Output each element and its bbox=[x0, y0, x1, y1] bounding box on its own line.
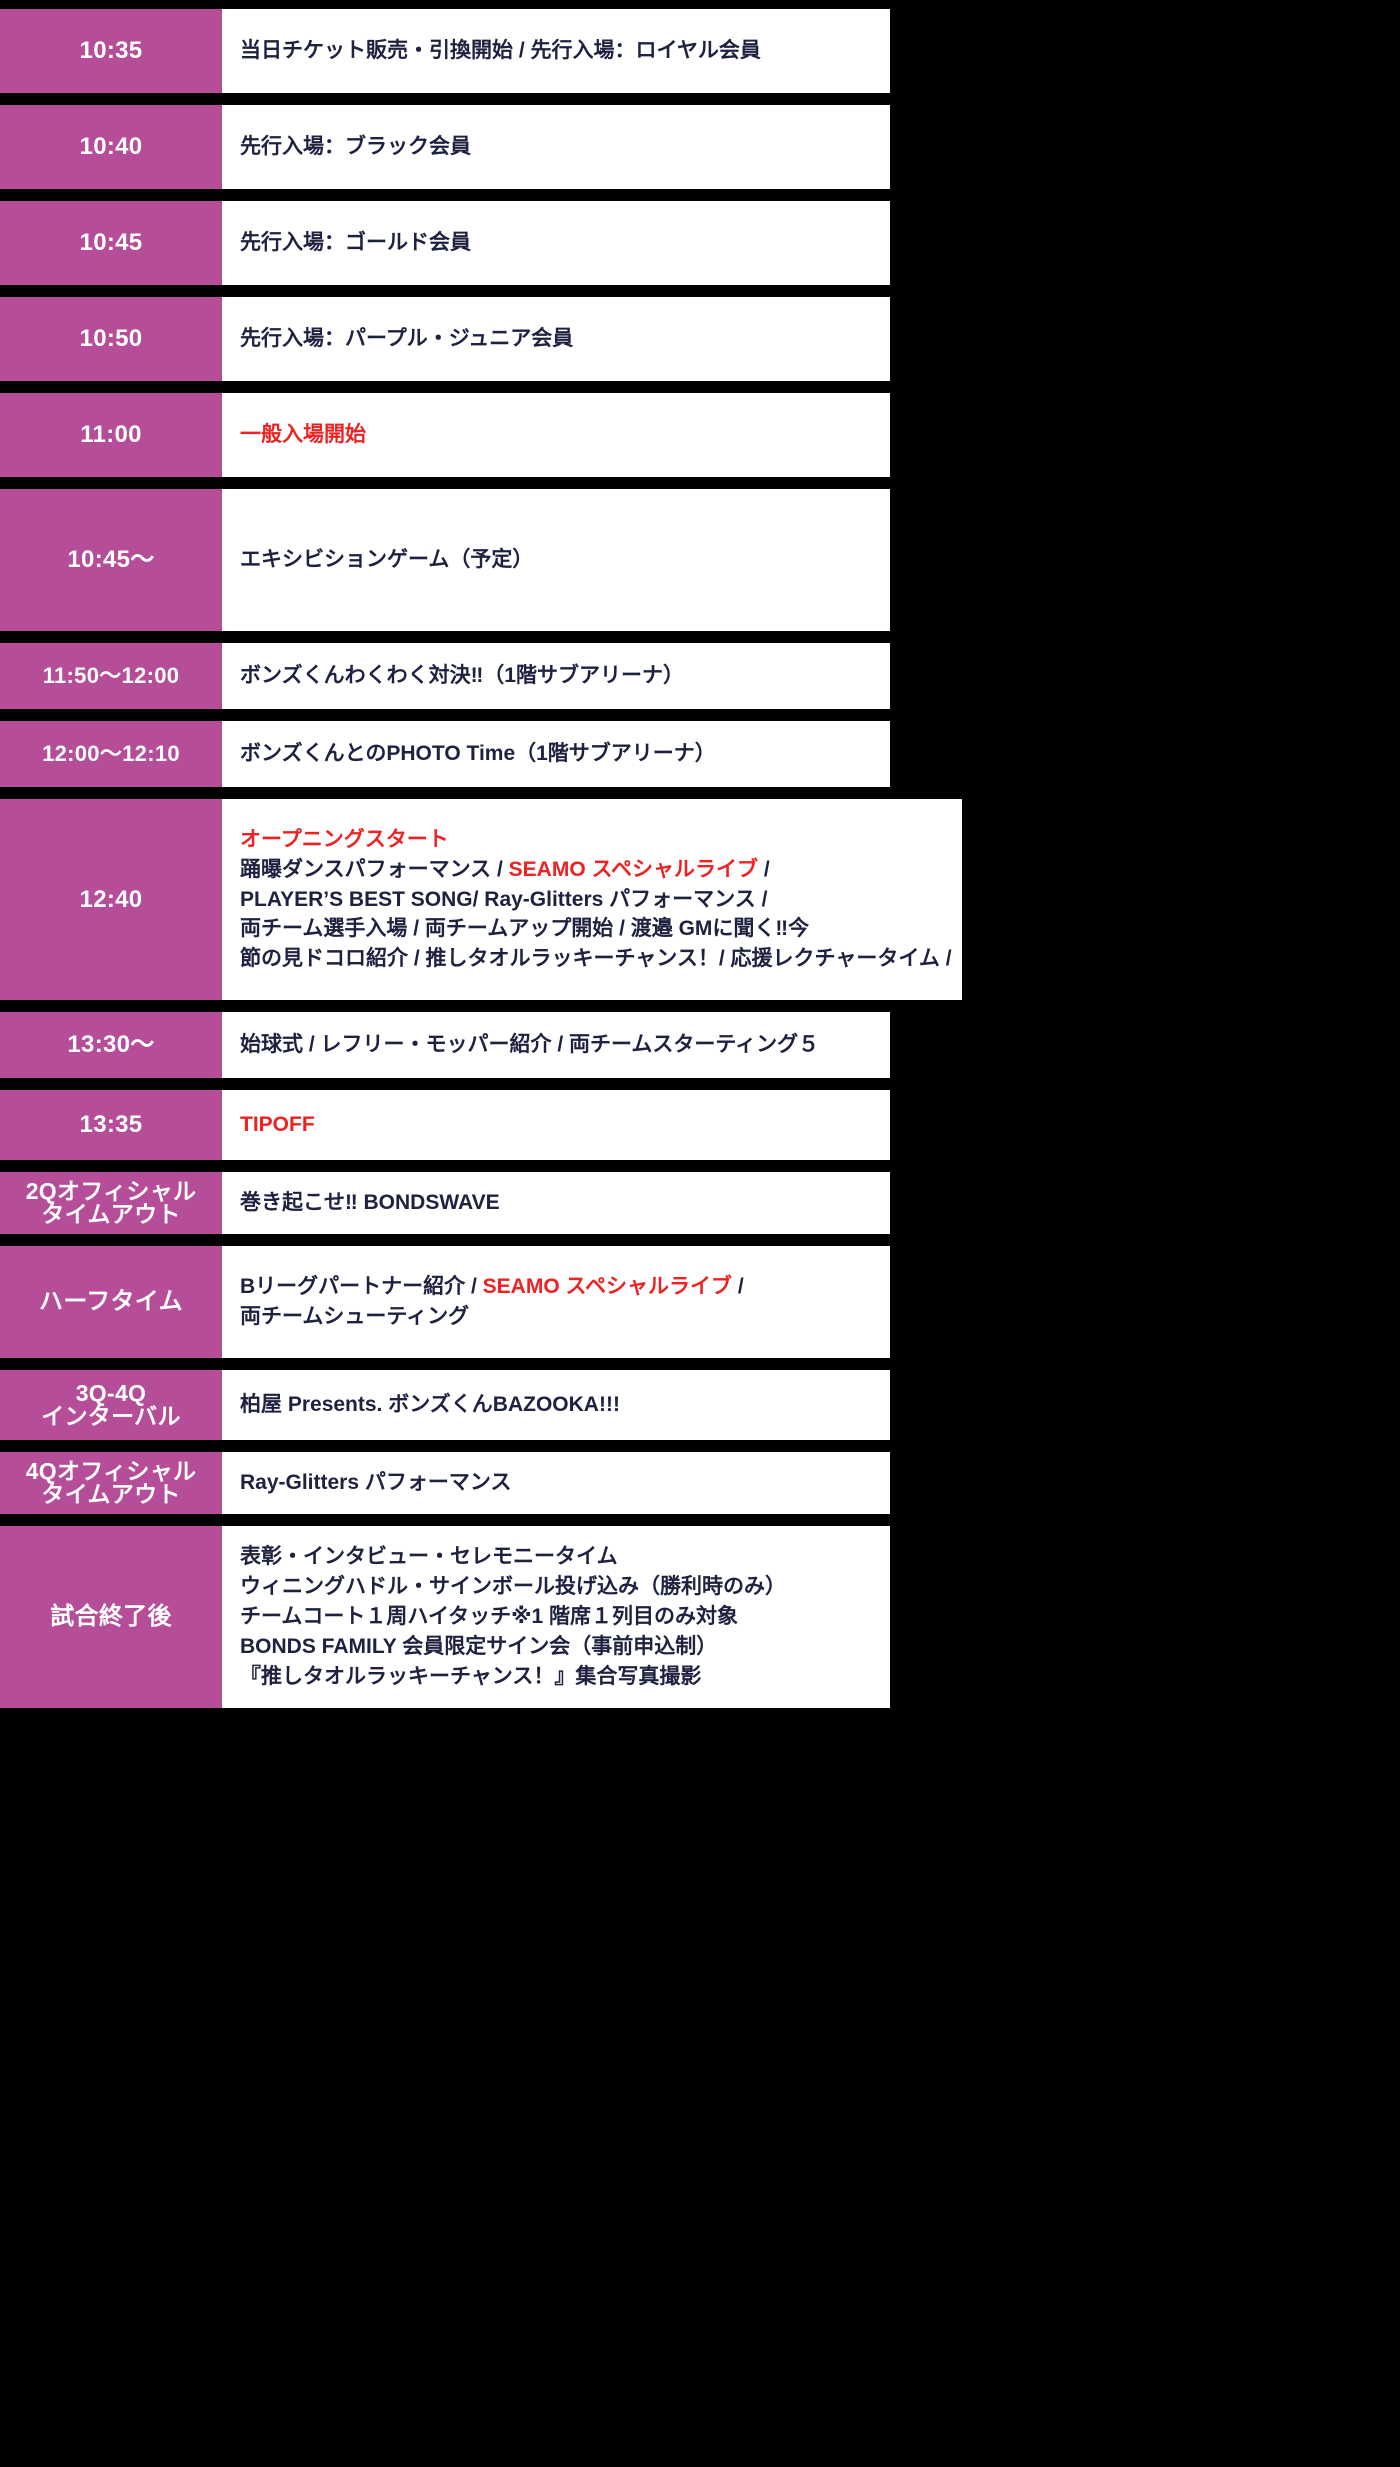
row-separator bbox=[0, 189, 890, 201]
schedule-row: 10:45先行入場：ゴールド会員 bbox=[0, 201, 890, 285]
schedule-time-cell: 3Q-4Q インターバル bbox=[0, 1370, 222, 1440]
schedule-description-cell: 一般入場開始 bbox=[222, 393, 890, 477]
schedule-time-cell: 13:35 bbox=[0, 1090, 222, 1160]
schedule-description-line: 当日チケット販売・引換開始 / 先行入場：ロイヤル会員 bbox=[240, 35, 880, 67]
schedule-description-line: 『推しタオルラッキーチャンス！』集合写真撮影 bbox=[240, 1662, 880, 1692]
description-text: 巻き起こせ‼ BONDSWAVE bbox=[240, 1191, 500, 1214]
schedule-row: ハーフタイムBリーグパートナー紹介 / SEAMO スペシャルライブ /両チーム… bbox=[0, 1246, 890, 1358]
row-separator bbox=[0, 1358, 890, 1370]
schedule-description-cell: エキシビションゲーム（予定） bbox=[222, 489, 890, 631]
description-text: ボンズくんとのPHOTO Time（1階サブアリーナ） bbox=[240, 742, 716, 765]
schedule-description-line: PLAYER’S BEST SONG/ Ray-Glitters パフォーマンス… bbox=[240, 885, 952, 915]
schedule-description-line: 表彰・インタビュー・セレモニータイム bbox=[240, 1542, 880, 1572]
schedule-description-cell: 先行入場：ブラック会員 bbox=[222, 105, 890, 189]
schedule-description-line: TIPOFF bbox=[240, 1109, 880, 1141]
description-text: 先行入場：ゴールド会員 bbox=[240, 231, 471, 254]
description-text: Ray-Glitters パフォーマンス bbox=[240, 1471, 511, 1494]
schedule-description-cell: Ray-Glitters パフォーマンス bbox=[222, 1452, 890, 1514]
highlight-text: 一般入場開始 bbox=[240, 423, 366, 446]
row-separator bbox=[0, 787, 890, 799]
schedule-description-line: 柏屋 Presents. ボンズくんBAZOOKA!!! bbox=[240, 1389, 880, 1421]
schedule-row: 10:50先行入場：パープル・ジュニア会員 bbox=[0, 297, 890, 381]
schedule-row: 13:35TIPOFF bbox=[0, 1090, 890, 1160]
schedule-description-cell: Bリーグパートナー紹介 / SEAMO スペシャルライブ /両チームシューティン… bbox=[222, 1246, 890, 1358]
schedule-time-cell: 10:45 bbox=[0, 201, 222, 285]
schedule-row: 2Qオフィシャル タイムアウト巻き起こせ‼ BONDSWAVE bbox=[0, 1172, 890, 1234]
row-separator bbox=[0, 1234, 890, 1246]
row-separator bbox=[0, 93, 890, 105]
schedule-row: 11:50〜12:00ボンズくんわくわく対決‼（1階サブアリーナ） bbox=[0, 643, 890, 709]
description-text: ボンズくんわくわく対決‼（1階サブアリーナ） bbox=[240, 664, 684, 687]
schedule-description-line: Ray-Glitters パフォーマンス bbox=[240, 1467, 880, 1499]
schedule-description-cell: ボンズくんわくわく対決‼（1階サブアリーナ） bbox=[222, 643, 890, 709]
schedule-description-line: 始球式 / レフリー・モッパー紹介 / 両チームスターティング５ bbox=[240, 1029, 880, 1061]
description-text: PLAYER’S BEST SONG/ Ray-Glitters パフォーマンス… bbox=[240, 888, 767, 911]
row-separator bbox=[0, 709, 890, 721]
schedule-time-cell: 11:00 bbox=[0, 393, 222, 477]
row-separator bbox=[0, 1000, 890, 1012]
row-separator bbox=[0, 1078, 890, 1090]
schedule-description-line: チームコート１周ハイタッチ※1 階席１列目のみ対象 bbox=[240, 1602, 880, 1632]
description-text: BONDS FAMILY 会員限定サイン会（事前申込制） bbox=[240, 1635, 717, 1658]
schedule-description-line: 両チーム選手入場 / 両チームアップ開始 / 渡邉 GMに聞く‼今 bbox=[240, 914, 952, 944]
schedule-time-cell: 10:40 bbox=[0, 105, 222, 189]
description-text: 当日チケット販売・引換開始 / 先行入場：ロイヤル会員 bbox=[240, 39, 761, 62]
description-text: 踊曝ダンスパフォーマンス / bbox=[240, 858, 509, 881]
description-text: 先行入場：ブラック会員 bbox=[240, 135, 471, 158]
description-text: エキシビションゲーム（予定） bbox=[240, 548, 533, 571]
description-text: ウィニングハドル・サインボール投げ込み（勝利時のみ） bbox=[240, 1575, 786, 1598]
description-text: 柏屋 Presents. ボンズくんBAZOOKA!!! bbox=[240, 1393, 620, 1416]
schedule-description-cell: 柏屋 Presents. ボンズくんBAZOOKA!!! bbox=[222, 1370, 890, 1440]
schedule-description-cell: 先行入場：パープル・ジュニア会員 bbox=[222, 297, 890, 381]
description-text: 『推しタオルラッキーチャンス！』集合写真撮影 bbox=[240, 1665, 701, 1688]
schedule-description-line: 踊曝ダンスパフォーマンス / SEAMO スペシャルライブ / bbox=[240, 855, 952, 885]
schedule-row: 4Qオフィシャル タイムアウトRay-Glitters パフォーマンス bbox=[0, 1452, 890, 1514]
schedule-description-cell: 巻き起こせ‼ BONDSWAVE bbox=[222, 1172, 890, 1234]
schedule-time-cell: 12:00〜12:10 bbox=[0, 721, 222, 787]
row-separator bbox=[0, 1514, 890, 1526]
row-separator bbox=[0, 285, 890, 297]
schedule-row: 10:45〜エキシビションゲーム（予定） bbox=[0, 489, 890, 631]
schedule-row: 試合終了後表彰・インタビュー・セレモニータイムウィニングハドル・サインボール投げ… bbox=[0, 1526, 890, 1708]
description-text: 両チームシューティング bbox=[240, 1305, 469, 1328]
schedule-description-line: BONDS FAMILY 会員限定サイン会（事前申込制） bbox=[240, 1632, 880, 1662]
schedule-description-cell: 始球式 / レフリー・モッパー紹介 / 両チームスターティング５ bbox=[222, 1012, 890, 1078]
schedule-description-line: ウィニングハドル・サインボール投げ込み（勝利時のみ） bbox=[240, 1572, 880, 1602]
schedule-time-cell: 2Qオフィシャル タイムアウト bbox=[0, 1172, 222, 1234]
description-text: / bbox=[758, 858, 770, 881]
schedule-row: 10:35当日チケット販売・引換開始 / 先行入場：ロイヤル会員 bbox=[0, 9, 890, 93]
row-separator bbox=[0, 477, 890, 489]
description-text: チームコート１周ハイタッチ※1 階席１列目のみ対象 bbox=[240, 1605, 738, 1628]
schedule-description-line: 先行入場：ブラック会員 bbox=[240, 131, 880, 163]
schedule-description-cell: オープニングスタート踊曝ダンスパフォーマンス / SEAMO スペシャルライブ … bbox=[222, 799, 962, 1000]
schedule-description-line: ボンズくんわくわく対決‼（1階サブアリーナ） bbox=[240, 660, 880, 692]
schedule-time-cell: 12:40 bbox=[0, 799, 222, 1000]
schedule-time-cell: 10:35 bbox=[0, 9, 222, 93]
highlight-text: SEAMO スペシャルライブ bbox=[483, 1275, 732, 1298]
schedule-time-cell: 4Qオフィシャル タイムアウト bbox=[0, 1452, 222, 1514]
schedule-row: 13:30〜始球式 / レフリー・モッパー紹介 / 両チームスターティング５ bbox=[0, 1012, 890, 1078]
schedule-description-line: 先行入場：パープル・ジュニア会員 bbox=[240, 323, 880, 355]
schedule-description-line: オープニングスタート bbox=[240, 825, 952, 855]
description-text: 節の見ドコロ紹介 / 推しタオルラッキーチャンス！/ 応援レクチャータイム / bbox=[240, 947, 952, 970]
schedule-description-line: 一般入場開始 bbox=[240, 419, 880, 451]
row-separator bbox=[0, 381, 890, 393]
description-text: 始球式 / レフリー・モッパー紹介 / 両チームスターティング５ bbox=[240, 1033, 819, 1056]
description-text: Bリーグパートナー紹介 / bbox=[240, 1275, 483, 1298]
row-separator bbox=[0, 0, 890, 9]
description-text: / bbox=[732, 1275, 744, 1298]
schedule-time-cell: 試合終了後 bbox=[0, 1526, 222, 1708]
schedule-row: 3Q-4Q インターバル柏屋 Presents. ボンズくんBAZOOKA!!! bbox=[0, 1370, 890, 1440]
event-schedule-table: 10:35当日チケット販売・引換開始 / 先行入場：ロイヤル会員10:40先行入… bbox=[0, 0, 890, 1708]
schedule-description-line: エキシビションゲーム（予定） bbox=[240, 544, 880, 576]
schedule-time-cell: 13:30〜 bbox=[0, 1012, 222, 1078]
highlight-text: TIPOFF bbox=[240, 1113, 315, 1136]
row-separator bbox=[0, 631, 890, 643]
row-separator bbox=[0, 1440, 890, 1452]
schedule-row: 12:40オープニングスタート踊曝ダンスパフォーマンス / SEAMO スペシャ… bbox=[0, 799, 890, 1000]
schedule-row: 10:40先行入場：ブラック会員 bbox=[0, 105, 890, 189]
description-text: 表彰・インタビュー・セレモニータイム bbox=[240, 1545, 618, 1568]
schedule-description-cell: TIPOFF bbox=[222, 1090, 890, 1160]
schedule-time-cell: 10:45〜 bbox=[0, 489, 222, 631]
schedule-time-cell: ハーフタイム bbox=[0, 1246, 222, 1358]
schedule-row: 11:00一般入場開始 bbox=[0, 393, 890, 477]
highlight-text: オープニングスタート bbox=[240, 828, 449, 851]
schedule-description-line: 節の見ドコロ紹介 / 推しタオルラッキーチャンス！/ 応援レクチャータイム / bbox=[240, 944, 952, 974]
schedule-description-cell: ボンズくんとのPHOTO Time（1階サブアリーナ） bbox=[222, 721, 890, 787]
row-separator bbox=[0, 1160, 890, 1172]
schedule-description-line: 両チームシューティング bbox=[240, 1302, 880, 1332]
schedule-description-line: 先行入場：ゴールド会員 bbox=[240, 227, 880, 259]
description-text: 先行入場：パープル・ジュニア会員 bbox=[240, 327, 573, 350]
schedule-description-line: ボンズくんとのPHOTO Time（1階サブアリーナ） bbox=[240, 738, 880, 770]
description-text: 両チーム選手入場 / 両チームアップ開始 / 渡邉 GMに聞く‼今 bbox=[240, 917, 809, 940]
schedule-description-line: Bリーグパートナー紹介 / SEAMO スペシャルライブ / bbox=[240, 1272, 880, 1302]
schedule-description-cell: 先行入場：ゴールド会員 bbox=[222, 201, 890, 285]
schedule-row: 12:00〜12:10ボンズくんとのPHOTO Time（1階サブアリーナ） bbox=[0, 721, 890, 787]
schedule-description-cell: 当日チケット販売・引換開始 / 先行入場：ロイヤル会員 bbox=[222, 9, 890, 93]
schedule-time-cell: 10:50 bbox=[0, 297, 222, 381]
schedule-description-cell: 表彰・インタビュー・セレモニータイムウィニングハドル・サインボール投げ込み（勝利… bbox=[222, 1526, 890, 1708]
schedule-description-line: 巻き起こせ‼ BONDSWAVE bbox=[240, 1187, 880, 1219]
highlight-text: SEAMO スペシャルライブ bbox=[509, 858, 758, 881]
schedule-time-cell: 11:50〜12:00 bbox=[0, 643, 222, 709]
